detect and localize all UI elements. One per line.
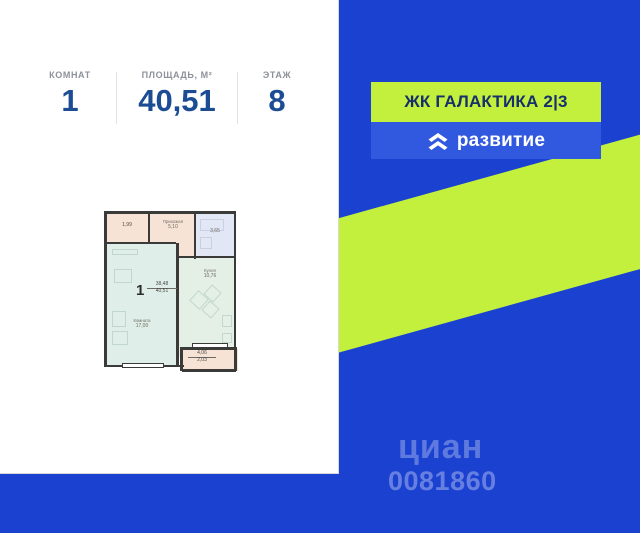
brand-panel: ЖК ГАЛАКТИКА 2|3 развитие	[330, 0, 640, 533]
plan-wall	[104, 211, 236, 214]
complex-name-badge: ЖК ГАЛАКТИКА 2|3	[371, 82, 601, 122]
stat-rooms-value: 1	[24, 85, 116, 116]
info-card: КОМНАТ 1 ПЛОЩАДЬ, М² 40,51 ЭТАЖ 8	[0, 0, 339, 474]
complex-name-label: ЖК ГАЛАКТИКА 2|3	[404, 92, 567, 112]
plan-furniture	[112, 331, 128, 345]
stat-area-value: 40,51	[117, 85, 237, 116]
stat-floor-label: ЭТАЖ	[238, 70, 316, 80]
plan-label-kitchen: Кухня 10,76	[190, 269, 230, 280]
floor-plan: 1,99 Прихожая 5,10 3,65 Кухня 10,76 Комн…	[100, 207, 250, 375]
stat-floor: ЭТАЖ 8	[238, 70, 316, 116]
apartment-stats: КОМНАТ 1 ПЛОЩАДЬ, М² 40,51 ЭТАЖ 8	[24, 70, 316, 132]
plan-label-area-1: 1,99	[110, 223, 144, 229]
plan-room-area: 10,76	[190, 274, 230, 280]
balcony-area-counted: 2,03	[188, 358, 216, 364]
plan-room-area: 3,65	[198, 229, 232, 235]
plan-wall	[106, 242, 176, 244]
plan-wall	[176, 243, 179, 367]
plan-window	[192, 343, 228, 348]
plan-wall	[148, 213, 150, 243]
plan-furniture	[114, 269, 132, 283]
plan-label-bathroom: 3,65	[198, 229, 232, 235]
plan-label-living: Комната 17,00	[116, 319, 168, 330]
stat-rooms: КОМНАТ 1	[24, 70, 116, 116]
developer-name-label: развитие	[457, 130, 545, 152]
plan-furniture	[222, 333, 232, 343]
area-total-value: 40,51	[147, 289, 177, 295]
plan-wall	[182, 369, 236, 372]
plan-room-area: 17,00	[116, 324, 168, 330]
plan-wall	[104, 211, 107, 367]
plan-wall	[234, 211, 237, 351]
listing-card: ЖК ГАЛАКТИКА 2|3 развитие циан 0081860 К…	[0, 0, 640, 533]
plan-room-area: 5,10	[152, 225, 194, 231]
plan-wall	[180, 347, 183, 371]
plan-room-count-badge: 1	[136, 283, 144, 298]
plan-area-value: 1,99	[110, 223, 144, 229]
stat-area: ПЛОЩАДЬ, М² 40,51	[117, 70, 237, 116]
plan-furniture	[112, 249, 138, 255]
stat-rooms-label: КОМНАТ	[24, 70, 116, 80]
plan-wall	[178, 256, 236, 258]
plan-window	[122, 363, 164, 368]
plan-label-hall: Прихожая 5,10	[152, 220, 194, 231]
double-chevron-up-icon	[427, 131, 449, 151]
developer-bar: развитие	[371, 122, 601, 159]
stat-area-label: ПЛОЩАДЬ, М²	[117, 70, 237, 80]
developer-logo-block: ЖК ГАЛАКТИКА 2|3 развитие	[371, 82, 601, 159]
plan-total-area-badge: 38,48 40,51	[147, 282, 177, 295]
plan-room-living	[106, 243, 178, 365]
plan-wall	[234, 347, 237, 371]
plan-wall	[194, 211, 196, 259]
stat-floor-value: 8	[238, 85, 316, 116]
plan-label-balcony: 4,06 2,03	[188, 351, 216, 364]
plan-furniture	[200, 237, 212, 249]
plan-furniture	[222, 315, 232, 327]
